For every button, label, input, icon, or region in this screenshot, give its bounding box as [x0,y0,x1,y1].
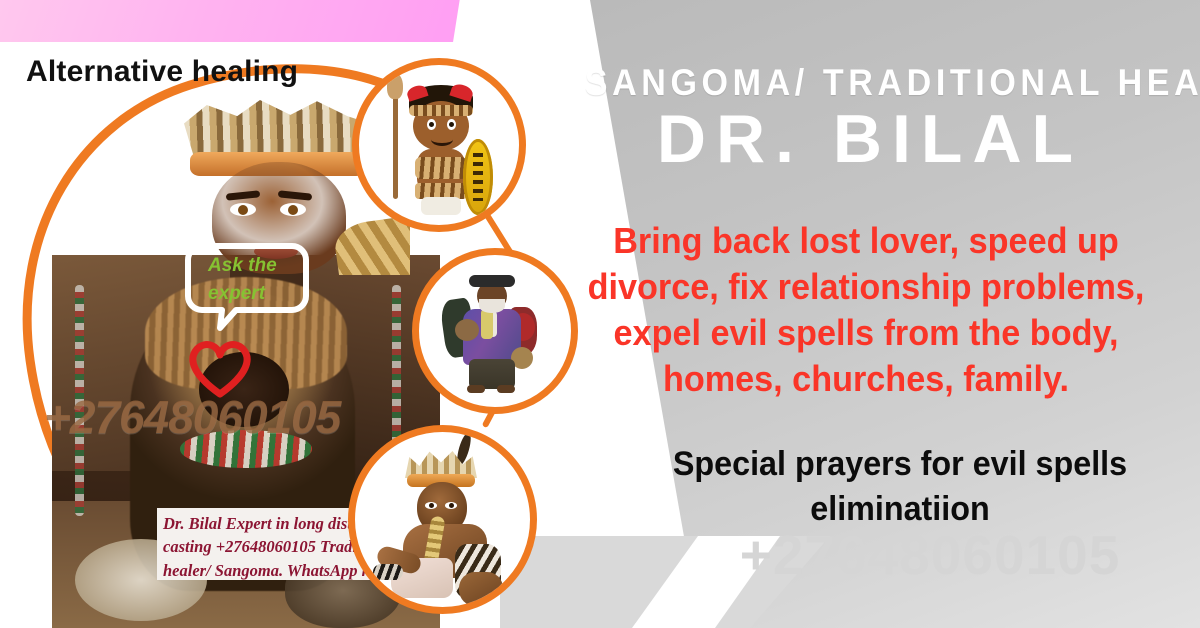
badge3-eye-right [445,502,457,509]
badge3-leg [459,572,503,606]
healer-name: DR. BILAL [560,104,1180,175]
services-text: Bring back lost lover, speed up divorce,… [553,218,1180,402]
badge1-eye-left [427,119,436,130]
badge3-hand-ornament [373,564,403,580]
badge1-shield-pattern [473,153,483,201]
badge2-scarf [481,309,493,339]
portrait-eye-right [280,203,306,216]
badge2-hat [469,275,515,287]
badge1-legs [421,197,461,215]
special-prayers-text: Special prayers for evil spells eliminat… [615,442,1185,532]
pink-accent-bar [0,0,460,42]
badge1-smile [431,133,453,146]
badge-zulu-warrior-cartoon [352,58,526,232]
phone-overlay: +27648060105 [44,390,444,444]
badge3-eye-left [425,502,437,509]
badge1-headband [409,105,473,116]
page-title: Alternative healing [26,55,298,89]
poster-canvas: Alternative healing +27648060105 Dr. Bil… [0,0,1200,628]
speech-bubble-text: Ask the expert [208,252,300,307]
badge1-chest-cloth [415,157,467,179]
kicker-text: SANGOMA/ TRADITIONAL HEALER [585,62,1155,104]
badge2-beard [479,299,505,313]
phone-watermark: +27648060105 [660,523,1200,587]
badge1-eye-right [447,119,456,130]
badge1-spear-tip [387,73,403,99]
portrait-eye-left [230,203,256,216]
badge2-shoe-right [497,385,515,393]
badge-crouching-warrior [348,425,537,614]
badge2-bag-left [455,319,479,341]
badge2-shoe-left [467,385,485,393]
